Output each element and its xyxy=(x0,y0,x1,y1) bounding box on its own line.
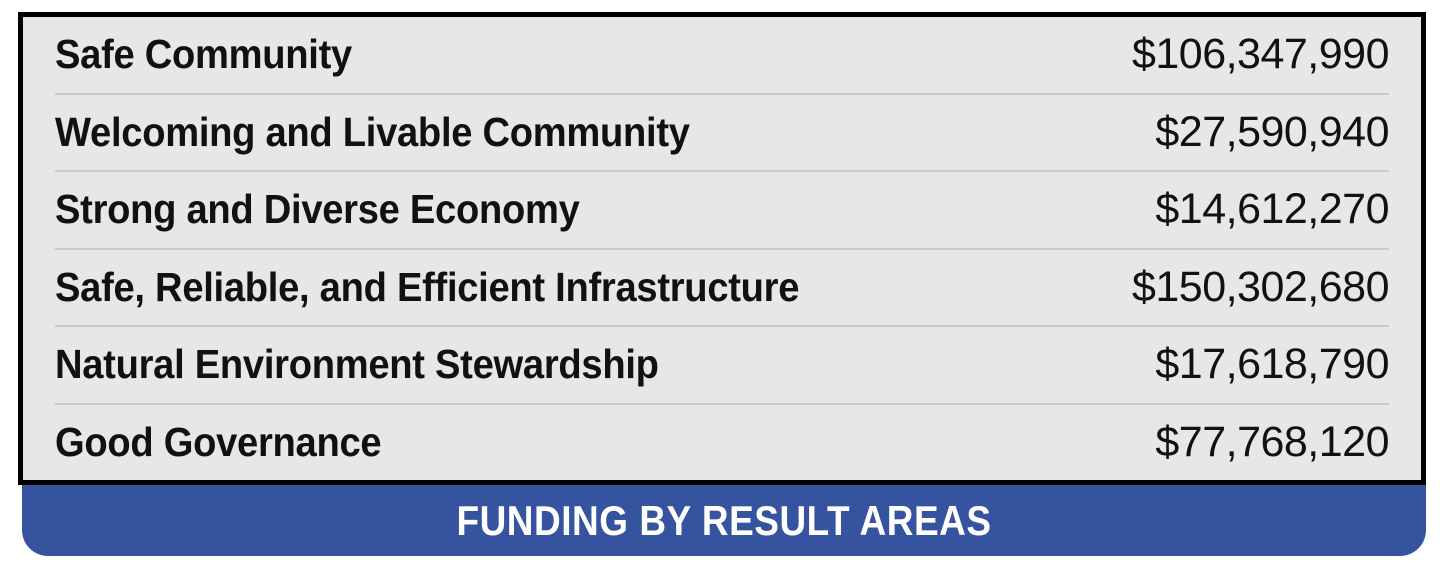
result-area-label: Strong and Diverse Economy xyxy=(55,188,596,231)
funding-by-result-areas-infographic: Safe Community $106,347,990 Welcoming an… xyxy=(0,0,1448,572)
funding-table-rows: Safe Community $106,347,990 Welcoming an… xyxy=(23,17,1421,480)
table-row: Good Governance $77,768,120 xyxy=(55,405,1389,481)
table-row: Natural Environment Stewardship $17,618,… xyxy=(55,327,1389,405)
result-area-amount: $106,347,990 xyxy=(1132,32,1389,77)
result-area-amount: $14,612,270 xyxy=(1155,187,1389,232)
result-area-amount: $17,618,790 xyxy=(1155,342,1389,387)
result-area-label: Natural Environment Stewardship xyxy=(55,343,675,386)
result-area-label: Good Governance xyxy=(55,421,398,464)
banner-title: FUNDING BY RESULT AREAS xyxy=(456,500,991,542)
funding-banner: FUNDING BY RESULT AREAS xyxy=(22,485,1426,556)
result-area-label: Safe, Reliable, and Efficient Infrastruc… xyxy=(55,266,816,309)
table-row: Welcoming and Livable Community $27,590,… xyxy=(55,95,1389,173)
result-area-amount: $77,768,120 xyxy=(1155,420,1389,465)
table-row: Strong and Diverse Economy $14,612,270 xyxy=(55,172,1389,250)
table-row: Safe, Reliable, and Efficient Infrastruc… xyxy=(55,250,1389,328)
result-area-label: Welcoming and Livable Community xyxy=(55,111,706,154)
result-area-amount: $150,302,680 xyxy=(1132,265,1389,310)
result-area-label: Safe Community xyxy=(55,33,369,76)
table-row: Safe Community $106,347,990 xyxy=(55,17,1389,95)
funding-table: Safe Community $106,347,990 Welcoming an… xyxy=(18,12,1426,485)
result-area-amount: $27,590,940 xyxy=(1155,110,1389,155)
